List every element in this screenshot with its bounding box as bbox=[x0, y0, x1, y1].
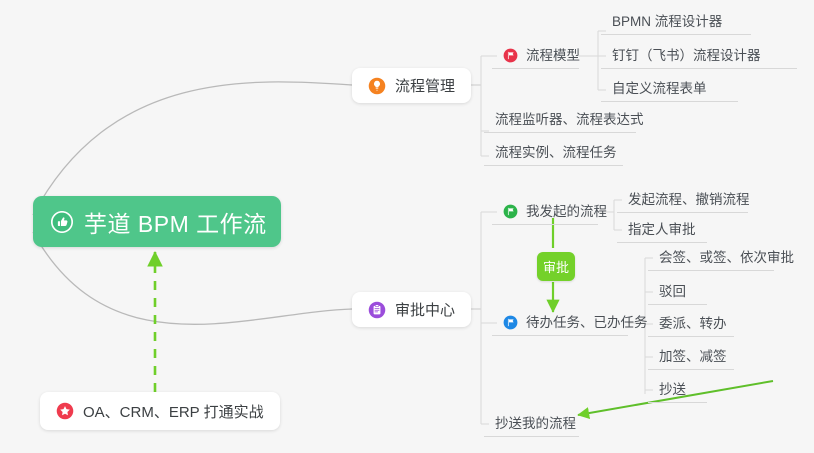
branch-label: 流程管理 bbox=[395, 75, 455, 96]
node-todo-done-tasks[interactable]: 待办任务、已办任务 bbox=[492, 309, 628, 336]
branch-process-management[interactable]: 流程管理 bbox=[352, 68, 471, 103]
bottom-card-oa-crm-erp[interactable]: OA、CRM、ERP 打通实战 bbox=[40, 392, 280, 430]
node-label: 驳回 bbox=[659, 278, 686, 305]
node-label: 流程模型 bbox=[526, 42, 580, 69]
node-label: 待办任务、已办任务 bbox=[526, 309, 648, 336]
node-custom-form[interactable]: 自定义流程表单 bbox=[601, 75, 738, 102]
node-label: 委派、转办 bbox=[659, 310, 727, 337]
node-process-instance[interactable]: 流程实例、流程任务 bbox=[484, 139, 623, 166]
node-label: 指定人审批 bbox=[628, 216, 696, 243]
node-label: 我发起的流程 bbox=[526, 198, 607, 225]
bottom-card-label: OA、CRM、ERP 打通实战 bbox=[83, 401, 264, 422]
branch-label: 审批中心 bbox=[395, 299, 455, 320]
node-label: 加签、减签 bbox=[659, 343, 727, 370]
node-label: 自定义流程表单 bbox=[612, 75, 707, 102]
node-dingtalk-feishu-designer[interactable]: 钉钉（飞书）流程设计器 bbox=[601, 42, 797, 69]
node-process-listener[interactable]: 流程监听器、流程表达式 bbox=[484, 106, 636, 133]
node-label: 流程实例、流程任务 bbox=[495, 139, 617, 166]
node-start-cancel-process[interactable]: 发起流程、撤销流程 bbox=[617, 186, 748, 213]
node-cc-to-me[interactable]: 抄送我的流程 bbox=[484, 410, 579, 437]
flag-icon bbox=[503, 204, 518, 219]
node-bpmn-designer[interactable]: BPMN 流程设计器 bbox=[601, 8, 751, 35]
approval-chip-label: 审批 bbox=[543, 257, 569, 276]
node-assigned-approver[interactable]: 指定人审批 bbox=[617, 216, 707, 243]
node-reject[interactable]: 驳回 bbox=[648, 278, 707, 305]
thumbs-up-icon bbox=[51, 211, 73, 233]
root-label: 芋道 BPM 工作流 bbox=[84, 205, 267, 239]
branch-approval-center[interactable]: 审批中心 bbox=[352, 292, 471, 327]
approval-chip[interactable]: 审批 bbox=[537, 252, 575, 281]
node-label: 发起流程、撤销流程 bbox=[628, 186, 750, 213]
node-label: 抄送我的流程 bbox=[495, 410, 576, 437]
node-label: 抄送 bbox=[659, 376, 686, 403]
node-countersign[interactable]: 会签、或签、依次审批 bbox=[648, 244, 774, 271]
node-label: 流程监听器、流程表达式 bbox=[495, 106, 644, 133]
lightbulb-icon bbox=[368, 77, 386, 95]
node-add-remove-sign[interactable]: 加签、减签 bbox=[648, 343, 734, 370]
star-icon bbox=[56, 402, 74, 420]
node-delegate-transfer[interactable]: 委派、转办 bbox=[648, 310, 734, 337]
node-label: 会签、或签、依次审批 bbox=[659, 244, 794, 271]
node-label: BPMN 流程设计器 bbox=[612, 8, 722, 35]
node-my-initiated[interactable]: 我发起的流程 bbox=[492, 198, 598, 225]
node-carbon-copy[interactable]: 抄送 bbox=[648, 376, 707, 403]
clipboard-icon bbox=[368, 301, 386, 319]
node-process-model[interactable]: 流程模型 bbox=[492, 42, 579, 69]
mindmap-canvas: 芋道 BPM 工作流 流程管理 流程模型 BPMN 流程设计器 钉钉（飞书）流程… bbox=[0, 0, 814, 453]
flag-icon bbox=[503, 315, 518, 330]
node-label: 钉钉（飞书）流程设计器 bbox=[612, 42, 761, 69]
flag-icon bbox=[503, 48, 518, 63]
root-node[interactable]: 芋道 BPM 工作流 bbox=[33, 196, 281, 247]
